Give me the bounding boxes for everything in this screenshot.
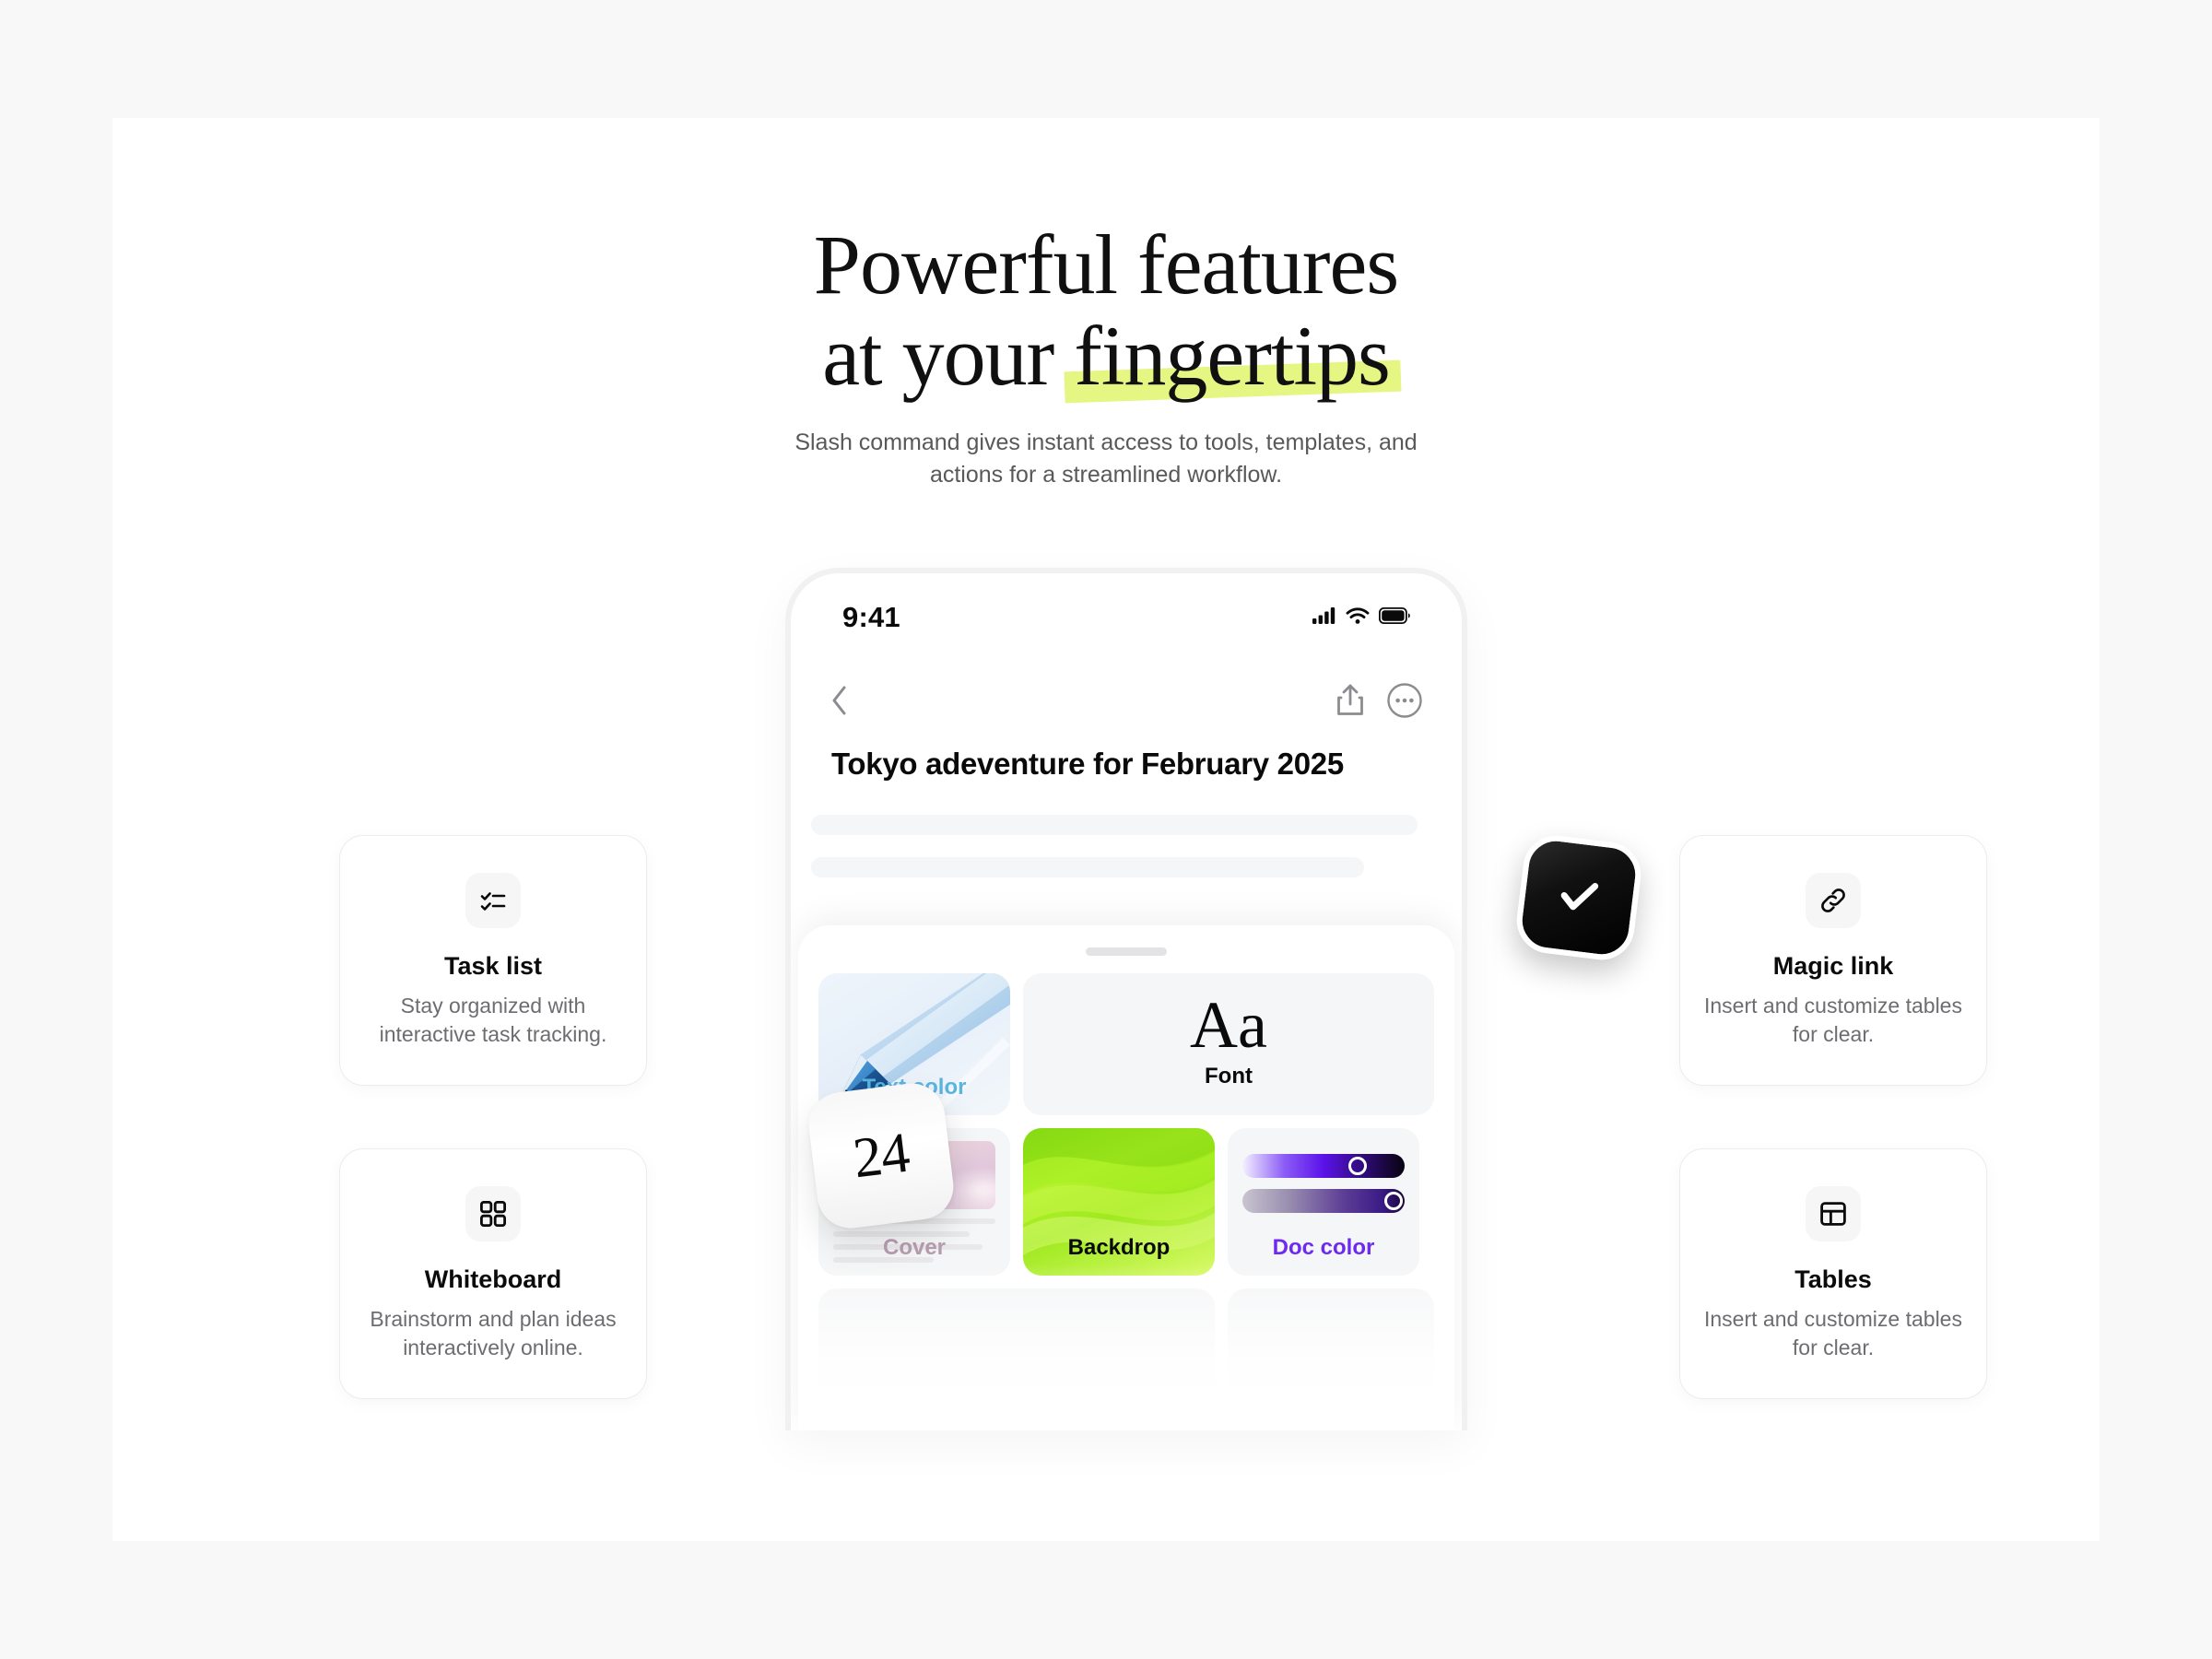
number-badge-value: 24 — [850, 1120, 912, 1192]
page-title: Powerful features at your fingertips — [112, 219, 2100, 403]
slider-knob[interactable] — [1384, 1192, 1403, 1210]
feature-card-tables[interactable]: Tables Insert and customize tables for c… — [1679, 1148, 1987, 1399]
feature-card-whiteboard[interactable]: Whiteboard Brainstorm and plan ideas int… — [339, 1148, 647, 1399]
nav-right-actions — [1335, 682, 1423, 724]
font-glyph: Aa — [1190, 992, 1267, 1058]
tool-label: Font — [1205, 1064, 1253, 1102]
feature-title: Tables — [1794, 1265, 1872, 1294]
feature-title: Magic link — [1773, 952, 1894, 981]
document-title: Tokyo adeventure for February 2025 — [831, 747, 1344, 782]
tool-label: Cover — [883, 1235, 946, 1276]
page-title-line-2: at your fingertips — [112, 311, 2100, 402]
status-bar-icons — [1312, 606, 1410, 629]
tool-backdrop[interactable]: Backdrop — [1023, 1128, 1215, 1276]
highlighted-word-text: fingertips — [1074, 309, 1390, 403]
sheet-drag-handle[interactable] — [1086, 947, 1167, 956]
tool-font[interactable]: Aa Font — [1023, 973, 1434, 1115]
link-icon — [1806, 873, 1861, 928]
page-title-line-1: Powerful features — [814, 218, 1398, 312]
share-icon[interactable] — [1335, 683, 1366, 723]
number-badge: 24 — [806, 1080, 958, 1232]
feature-title: Whiteboard — [425, 1265, 562, 1294]
document-skeleton-line — [811, 857, 1364, 877]
tool-placeholder[interactable] — [1228, 1288, 1434, 1427]
feature-card-task-list[interactable]: Task list Stay organized with interactiv… — [339, 835, 647, 1086]
tool-doc-color[interactable]: Doc color — [1228, 1128, 1419, 1276]
wifi-icon — [1346, 606, 1370, 629]
doc-color-slider-secondary[interactable] — [1242, 1189, 1405, 1213]
tool-label: Backdrop — [1068, 1235, 1171, 1276]
doc-color-slider-primary[interactable] — [1242, 1154, 1405, 1178]
content-canvas: Powerful features at your fingertips Sla… — [112, 118, 2100, 1541]
grid-squares-icon — [465, 1186, 521, 1241]
doc-color-sliders — [1242, 1154, 1405, 1224]
cellular-signal-icon — [1312, 606, 1336, 629]
feature-title: Task list — [444, 952, 542, 981]
highlighted-word: fingertips — [1074, 311, 1390, 402]
feature-description: Stay organized with interactive task tra… — [364, 992, 622, 1049]
phone-status-bar: 9:41 — [791, 599, 1462, 636]
chevron-left-icon[interactable] — [829, 684, 850, 722]
hero-section: Powerful features at your fingertips Sla… — [112, 219, 2100, 492]
phone-nav-bar — [791, 677, 1462, 728]
check-icon — [1547, 864, 1611, 932]
feature-card-magic-link[interactable]: Magic link Insert and customize tables f… — [1679, 835, 1987, 1086]
page-subtitle: Slash command gives instant access to to… — [793, 427, 1419, 492]
feature-description: Insert and customize tables for clear. — [1704, 992, 1962, 1049]
feature-description: Brainstorm and plan ideas interactively … — [364, 1305, 622, 1362]
feature-description: Insert and customize tables for clear. — [1704, 1305, 1962, 1362]
battery-icon — [1379, 607, 1410, 629]
tool-row-3 — [818, 1288, 1434, 1427]
page-title-line-2-prefix: at your — [822, 309, 1074, 403]
table-layout-icon — [1806, 1186, 1861, 1241]
slider-knob[interactable] — [1348, 1157, 1367, 1175]
more-options-icon[interactable] — [1386, 682, 1423, 724]
phone-mockup: 9:41 — [785, 568, 1467, 1430]
status-bar-clock: 9:41 — [842, 601, 900, 634]
tool-label: Doc color — [1273, 1235, 1375, 1276]
document-skeleton-line — [811, 815, 1418, 835]
tool-placeholder[interactable] — [818, 1288, 1215, 1427]
task-list-icon — [465, 873, 521, 928]
check-badge — [1513, 832, 1645, 964]
